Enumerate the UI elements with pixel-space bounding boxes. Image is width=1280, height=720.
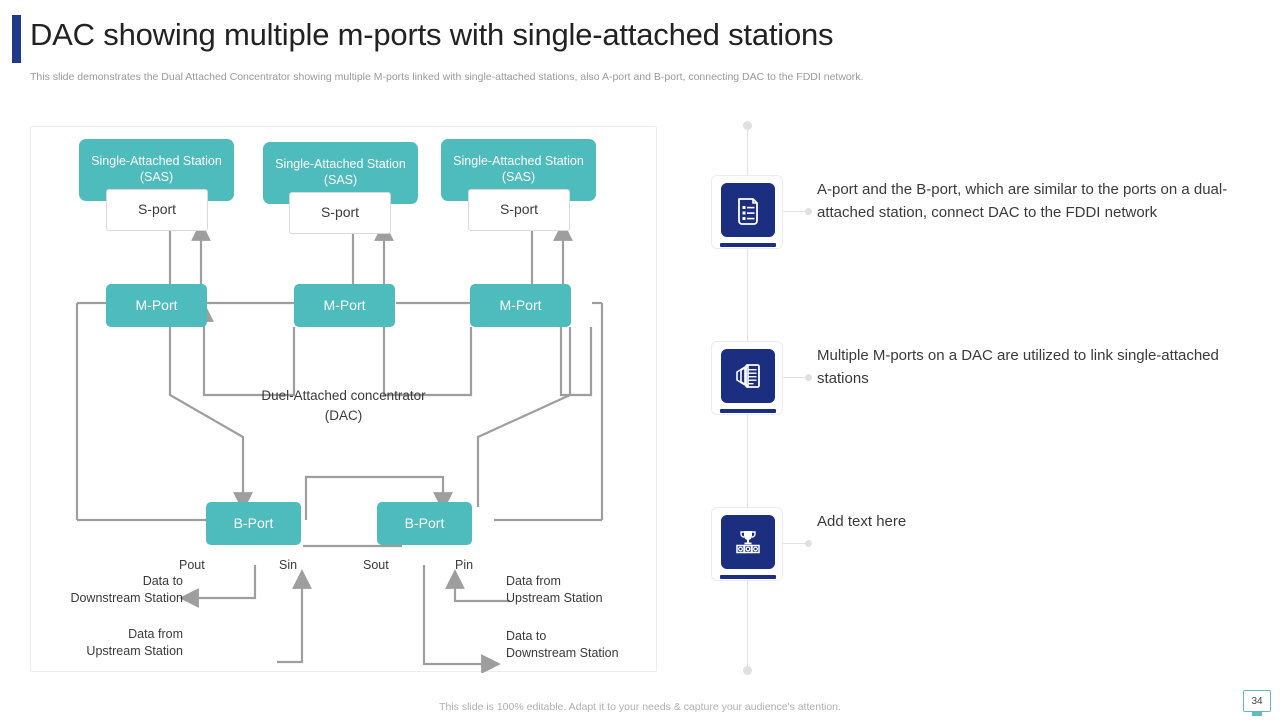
timeline-item-1[interactable]: A-port and the B-port, which are similar… <box>711 175 1251 259</box>
dac-label-line1: Duel-Attached concentrator <box>261 388 425 403</box>
footer-note: This slide is 100% editable. Adapt it to… <box>0 701 1280 713</box>
port-tag-pin: Pin <box>455 557 473 574</box>
sas-label-line1: Single-Attached Station <box>275 157 406 171</box>
page-number-badge: 34 <box>1243 690 1271 712</box>
dac-label: Duel-Attached concentrator (DAC) <box>31 386 656 425</box>
icon-card-1[interactable] <box>711 175 783 249</box>
s-port-box-3: S-port <box>468 189 570 231</box>
page-title: DAC showing multiple m-ports with single… <box>30 17 833 53</box>
timeline-connector-dot-1 <box>805 208 812 215</box>
s-port-box-1: S-port <box>106 189 208 231</box>
timeline-item-2[interactable]: Multiple M-ports on a DAC are utilized t… <box>711 341 1251 425</box>
sas-label-line1: Single-Attached Station <box>453 154 584 168</box>
sas-label-line2: (SAS) <box>502 170 535 184</box>
scroll-document-icon <box>719 181 777 239</box>
timeline-dot-bottom <box>743 666 752 675</box>
sas-label-line1: Single-Attached Station <box>91 154 222 168</box>
flow-data-from-upstream-right: Data from Upstream Station <box>506 573 666 607</box>
stacked-documents-icon <box>719 347 777 405</box>
sas-label-line2: (SAS) <box>324 173 357 187</box>
icon-card-2[interactable] <box>711 341 783 415</box>
dac-label-line2: (DAC) <box>325 408 363 423</box>
port-tag-sin: Sin <box>279 557 297 574</box>
timeline-item-text-1: A-port and the B-port, which are similar… <box>817 179 1251 224</box>
icon-card-underbar <box>720 243 776 247</box>
sas-label-line2: (SAS) <box>140 170 173 184</box>
timeline-item-3[interactable]: Add text here <box>711 507 1251 591</box>
trophy-podium-icon <box>719 513 777 571</box>
title-accent-bar <box>12 15 21 63</box>
m-port-box-2: M-Port <box>294 284 395 327</box>
flow-data-to-downstream-left: Data to Downstream Station <box>31 573 183 607</box>
flow-data-from-upstream-left: Data from Upstream Station <box>31 626 183 660</box>
icon-card-3[interactable] <box>711 507 783 581</box>
b-port-box-1: B-Port <box>206 502 301 545</box>
timeline-item-text-3: Add text here <box>817 511 1251 534</box>
m-port-box-3: M-Port <box>470 284 571 327</box>
flow-data-to-downstream-right: Data to Downstream Station <box>506 628 666 662</box>
timeline-item-text-2: Multiple M-ports on a DAC are utilized t… <box>817 345 1251 390</box>
icon-card-underbar <box>720 575 776 579</box>
timeline-connector-dot-3 <box>805 540 812 547</box>
port-tag-pout: Pout <box>179 557 205 574</box>
b-port-box-2: B-Port <box>377 502 472 545</box>
diagram-panel: Single-Attached Station (SAS) Single-Att… <box>30 126 657 672</box>
port-tag-sout: Sout <box>363 557 389 574</box>
timeline-connector-dot-2 <box>805 374 812 381</box>
slide-root: DAC showing multiple m-ports with single… <box>0 0 1280 720</box>
s-port-box-2: S-port <box>289 192 391 234</box>
page-subtitle: This slide demonstrates the Dual Attache… <box>30 71 863 83</box>
m-port-box-1: M-Port <box>106 284 207 327</box>
icon-card-underbar <box>720 409 776 413</box>
timeline-dot-top <box>743 121 752 130</box>
page-badge-stand <box>1252 712 1262 716</box>
